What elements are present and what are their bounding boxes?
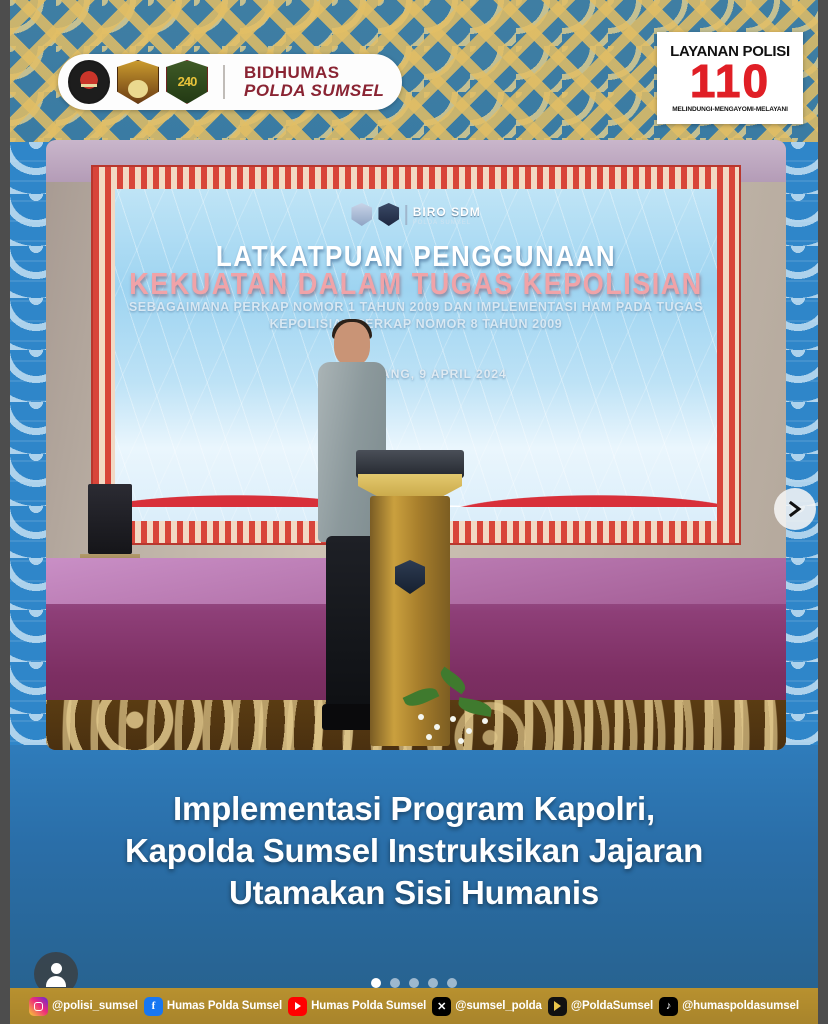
caption-line-1: Implementasi Program Kapolri, — [40, 788, 788, 830]
leaf-icon — [437, 667, 469, 695]
instagram-post-frame: BIDHUMAS POLDA SUMSEL LAYANAN POLISI 110… — [0, 0, 828, 1024]
carousel-dot[interactable] — [371, 978, 381, 988]
loudspeaker — [88, 484, 132, 554]
instagram-icon — [29, 997, 48, 1016]
social-link[interactable]: @polisi_sumsel — [29, 997, 138, 1016]
social-handle: @PoldaSumsel — [571, 1000, 653, 1012]
left-frame-border — [0, 0, 10, 1024]
flower-icon — [434, 724, 440, 730]
flower-icon — [426, 734, 432, 740]
tiktok-icon: ♪ — [659, 997, 678, 1016]
flower-icon — [450, 716, 456, 722]
layanan-polisi-110-badge: LAYANAN POLISI 110 MELINDUNGI-MENGAYOMI-… — [657, 32, 803, 124]
person-head — [334, 322, 370, 366]
flower-icon — [482, 718, 488, 724]
caption-line-2: Kapolda Sumsel Instruksikan Jajaran — [40, 830, 788, 872]
led-date-line: PALEMBANG, 9 APRIL 2024 — [115, 367, 717, 381]
leaf-icon — [457, 697, 493, 717]
avatar-person-icon — [51, 963, 62, 974]
led-title-line-2: KEKUATAN DALAM TUGAS KEPOLISIAN — [115, 267, 717, 302]
whatsapp-channel-icon — [548, 997, 567, 1016]
brand-line-1: BIDHUMAS — [244, 64, 384, 82]
social-handle: Humas Polda Sumsel — [167, 1000, 282, 1012]
led-subtitle: SEBAGAIMANA PERKAP NOMOR 1 TAHUN 2009 DA… — [115, 299, 717, 333]
anniversary-240-emblem-icon — [166, 60, 208, 104]
carousel-dot[interactable] — [390, 978, 400, 988]
biro-sdm-logo: BIRO SDM POLDA SUMSEL — [351, 203, 481, 226]
led-org-name: BIRO SDM — [413, 205, 481, 219]
social-link[interactable]: Humas Polda Sumsel — [288, 997, 426, 1016]
right-frame-border — [818, 0, 828, 1024]
police-shield-icon — [378, 203, 399, 226]
caption-line-3: Utamakan Sisi Humanis — [40, 872, 788, 914]
carousel-next-button[interactable] — [774, 488, 816, 530]
post-photo[interactable]: BIRO SDM POLDA SUMSEL LATKATPUAN PENGGUN… — [46, 140, 786, 750]
bidhumas-logo-badge: BIDHUMAS POLDA SUMSEL — [58, 54, 402, 110]
carousel-dot[interactable] — [428, 978, 438, 988]
chevron-right-icon — [787, 500, 803, 518]
social-handle: @polisi_sumsel — [52, 1000, 138, 1012]
social-handle: @sumsel_polda — [455, 1000, 542, 1012]
bidhumas-text: BIDHUMAS POLDA SUMSEL — [244, 64, 384, 101]
flower-icon — [458, 738, 464, 744]
badge-bottom-text: MELINDUNGI-MENGAYOMI-MELAYANI — [672, 106, 788, 113]
divider — [223, 65, 225, 99]
social-handle: @humaspoldasumsel — [682, 1000, 799, 1012]
social-link[interactable]: ✕@sumsel_polda — [432, 997, 542, 1016]
social-media-bar: @polisi_sumselfHumas Polda SumselHumas P… — [10, 988, 818, 1024]
youtube-icon — [288, 997, 307, 1016]
led-org-sub: POLDA SUMSEL — [413, 220, 481, 226]
polri-emblem-icon — [68, 60, 110, 104]
podium-top — [356, 450, 464, 478]
brand-line-2: POLDA SUMSEL — [244, 82, 384, 100]
social-link[interactable]: fHumas Polda Sumsel — [144, 997, 282, 1016]
divider — [405, 205, 407, 225]
x-twitter-icon: ✕ — [432, 997, 451, 1016]
social-handle: Humas Polda Sumsel — [311, 1000, 426, 1012]
carousel-dot[interactable] — [447, 978, 457, 988]
polda-sumsel-emblem-icon — [117, 60, 159, 104]
badge-number: 110 — [690, 60, 770, 104]
flower-arrangement — [398, 670, 508, 750]
carousel-dots[interactable] — [0, 978, 828, 988]
flower-icon — [418, 714, 424, 720]
flower-icon — [466, 728, 472, 734]
carousel-dot[interactable] — [409, 978, 419, 988]
post-caption: Implementasi Program Kapolri, Kapolda Su… — [40, 788, 788, 914]
social-link[interactable]: @PoldaSumsel — [548, 997, 653, 1016]
social-link[interactable]: ♪@humaspoldasumsel — [659, 997, 799, 1016]
facebook-icon: f — [144, 997, 163, 1016]
leaf-icon — [403, 683, 440, 710]
shield-icon — [351, 203, 372, 226]
